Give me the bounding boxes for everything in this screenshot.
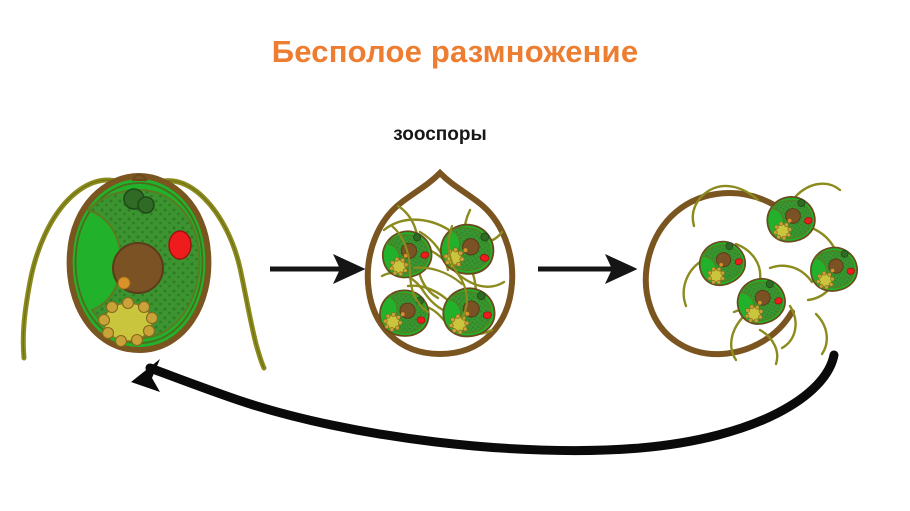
stage-zoospores-in-wall <box>368 173 512 354</box>
stage-released-zoospores <box>646 184 861 364</box>
zoospore-cell <box>693 235 751 292</box>
cycle-arrow-head <box>131 359 160 392</box>
zoospore-cell <box>807 244 860 295</box>
eyespot <box>169 231 191 259</box>
diagram-canvas: Бесполое размножение зооспоры <box>0 0 910 511</box>
nucleolus <box>118 277 130 289</box>
arrow-cycle-return <box>131 355 834 451</box>
diagram-svg <box>0 0 910 511</box>
papilla <box>133 175 146 180</box>
stage-vegetative-cell <box>23 175 264 368</box>
contractile-vacuole-2 <box>138 197 154 213</box>
